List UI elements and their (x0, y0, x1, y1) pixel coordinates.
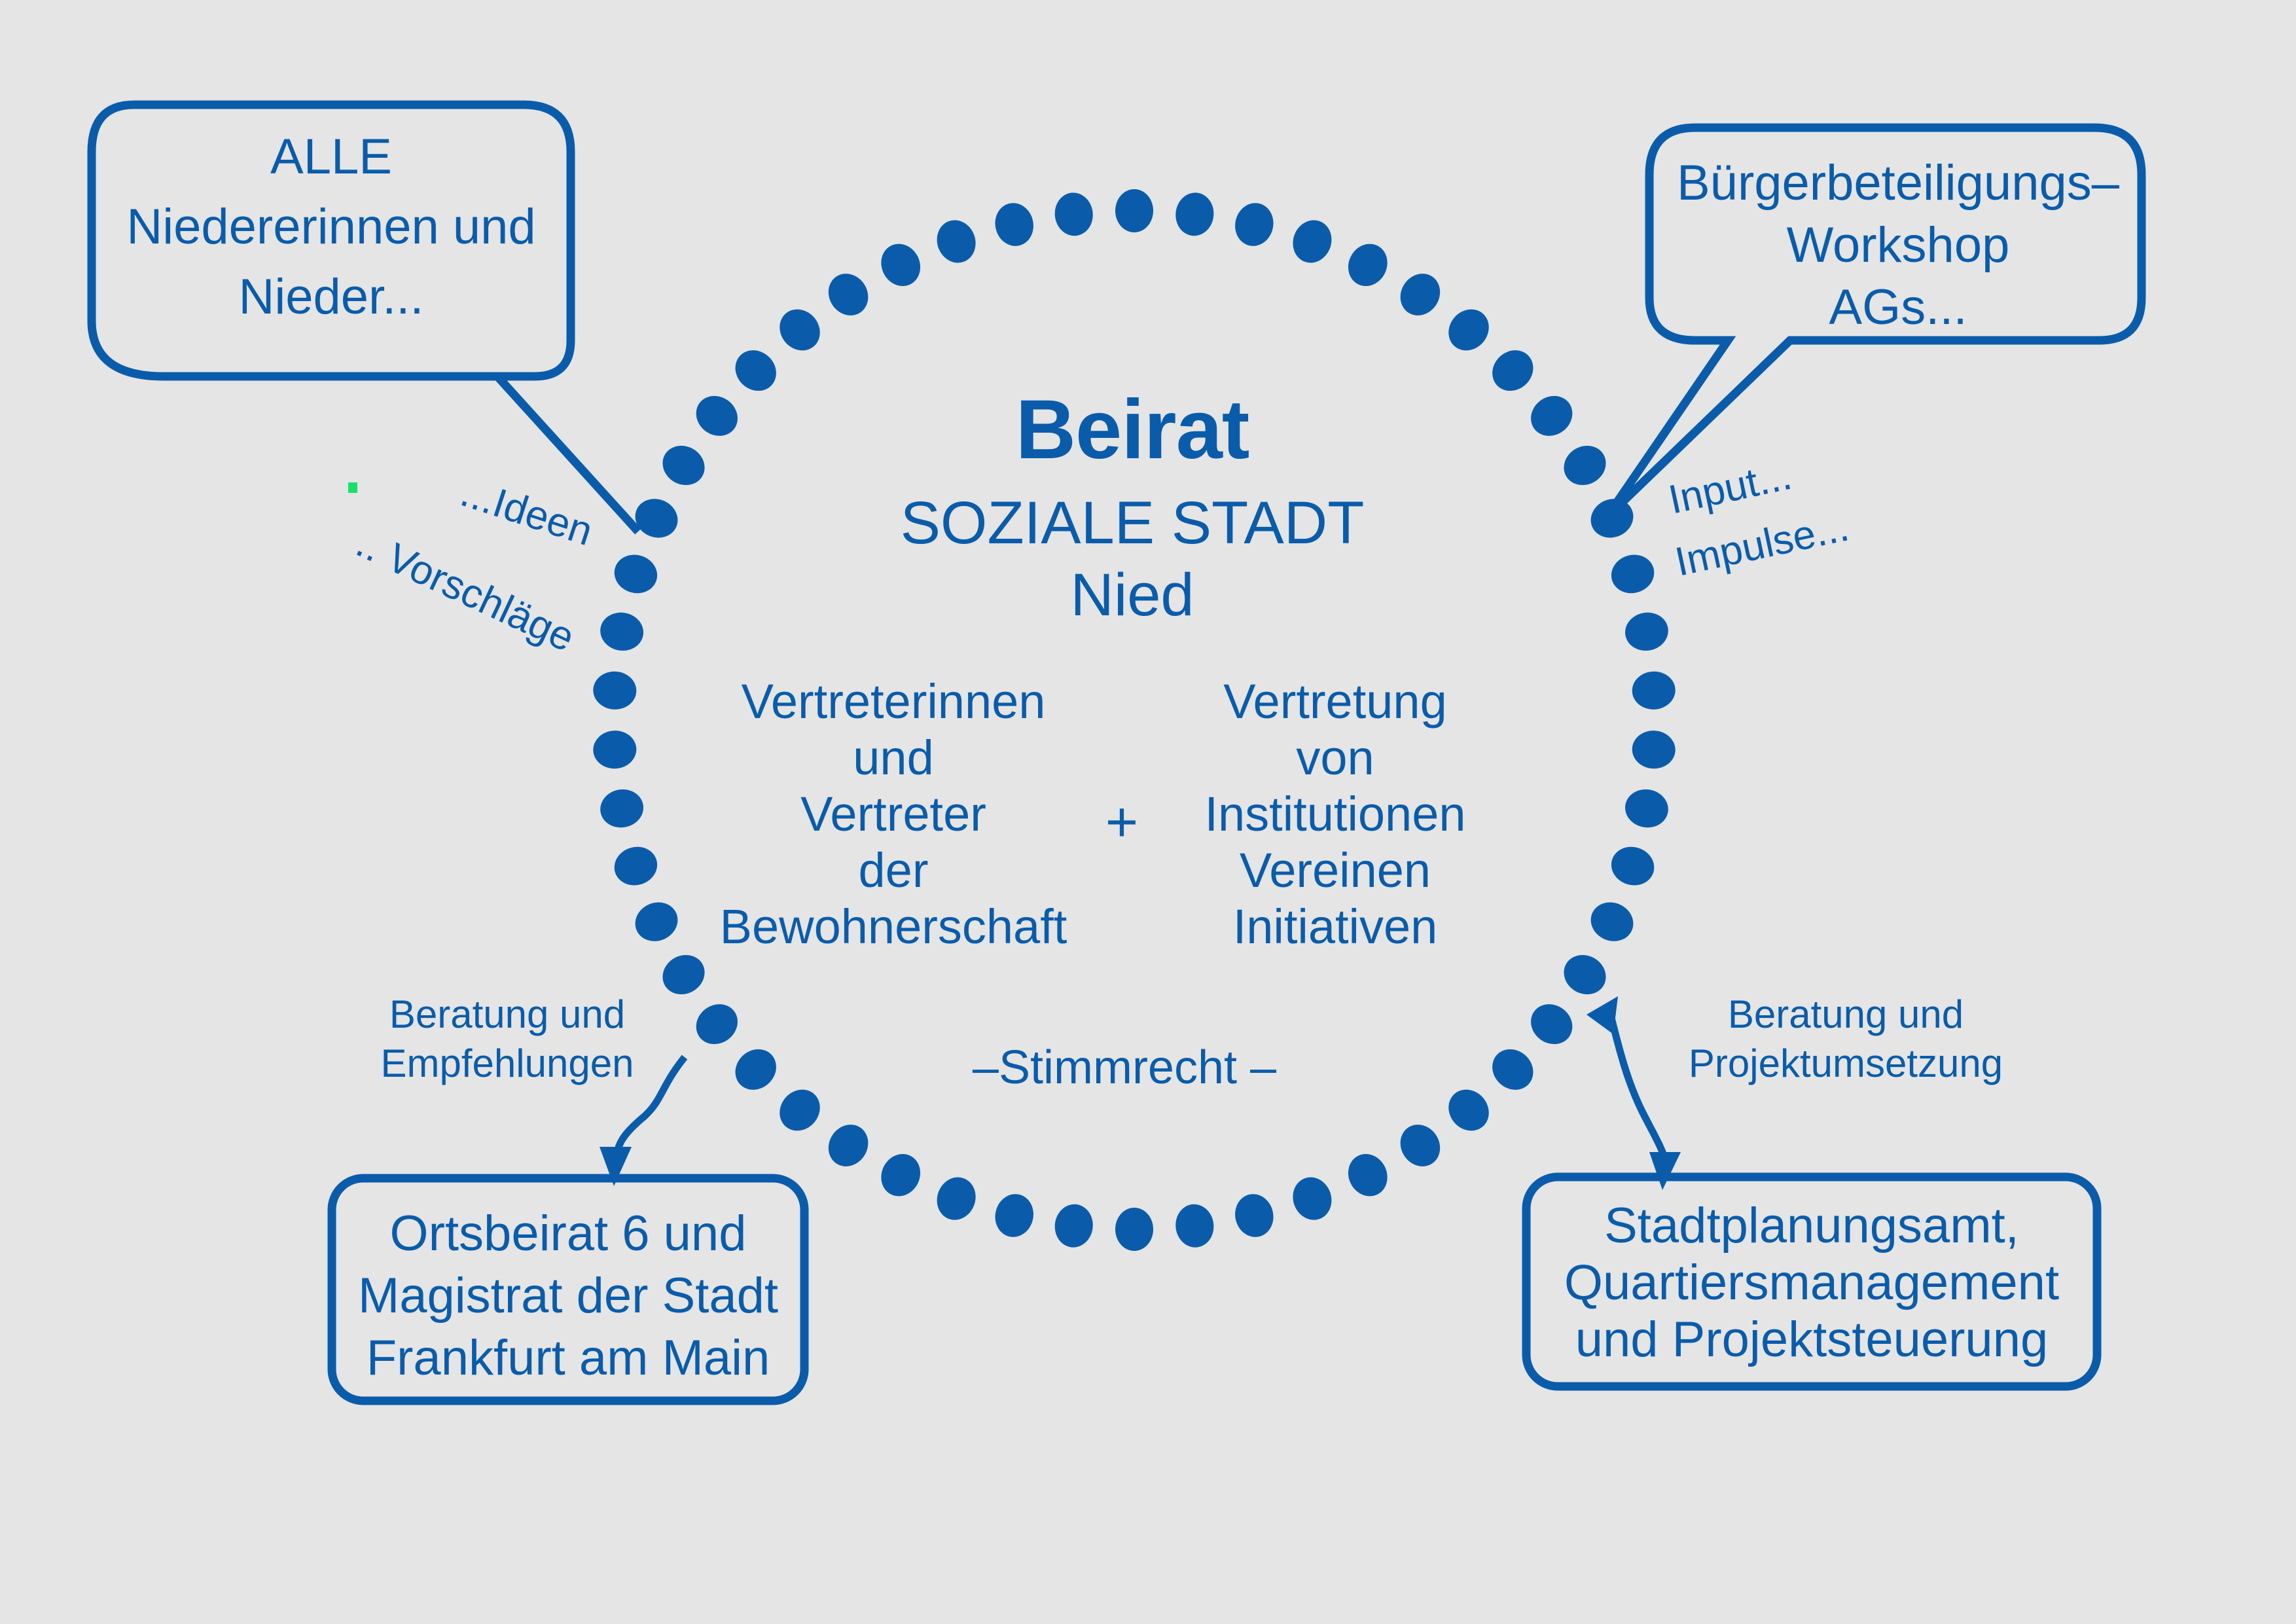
box-line-3: und Projektsteuerung (1575, 1312, 2048, 1367)
ring-dot (1115, 189, 1153, 232)
ring-dot (772, 301, 829, 359)
ring-dot (598, 609, 647, 655)
ring-dot (1585, 896, 1640, 948)
ring-dot (1556, 947, 1613, 1001)
right-column-line-3: Institutionen (1204, 787, 1465, 841)
right-column-line-2: von (1296, 731, 1374, 785)
bubble-line-1: Bürgerbeteiligungs– (1677, 155, 2120, 211)
bubble-line-3: Nieder... (238, 269, 423, 325)
right-column-line-5: Initiativen (1233, 899, 1438, 954)
bubble-line-2: Niedererinnen und (126, 199, 535, 255)
ring-dot (1052, 1202, 1095, 1250)
green-dot-marker (348, 482, 357, 493)
label-beratung-projektumsetzung-line-1: Beratung und (1728, 992, 1964, 1036)
box-line-2: Quartiersmanagement (1564, 1255, 2059, 1310)
ring-dot (1523, 388, 1581, 444)
ring-dot (727, 1041, 785, 1098)
annotation-ideen: ...Ideen (456, 470, 598, 555)
ring-dot (1115, 1208, 1153, 1251)
page-title: Beirat (1016, 383, 1249, 477)
label-beratung-empfehlungen-line-1: Beratung und (389, 992, 625, 1036)
ring-dot (1585, 492, 1640, 544)
ring-dot (592, 670, 637, 711)
box-line-2: Magistrat der Stadt (358, 1268, 778, 1324)
ring-dot (689, 388, 746, 444)
ring-dot (991, 199, 1038, 250)
bubble-line-1: ALLE (270, 129, 392, 185)
annotation-input: Input... (1665, 453, 1796, 523)
ring-dot (1631, 670, 1676, 711)
ring-dot (629, 492, 684, 544)
left-column-line-2: und (853, 731, 933, 785)
ring-dot (1174, 190, 1216, 238)
ring-dot (727, 342, 785, 399)
ring-dot (931, 215, 982, 268)
plus-operator: + (1105, 791, 1138, 854)
ring-dot (1341, 1147, 1394, 1203)
right-column-line-4: Vereinen (1240, 843, 1431, 897)
ring-dot (1393, 266, 1448, 323)
left-column-line-3: Vertreter (800, 787, 986, 841)
box-stadtplanungsamt[interactable]: Stadtplanungsamt, Quartiersmanagement un… (1526, 1177, 2097, 1386)
ring-dot (655, 947, 711, 1001)
ring-dot (1556, 438, 1613, 492)
ring-dot (874, 237, 927, 293)
ring-dot (1484, 342, 1541, 399)
ring-dot (1622, 786, 1671, 831)
ring-dot (1393, 1117, 1448, 1174)
box-line-3: Frankfurt am Main (367, 1330, 770, 1386)
left-column-line-5: Bewohnerschaft (720, 899, 1067, 954)
left-column-line-4: der (859, 843, 929, 897)
ring-dot (689, 996, 746, 1053)
ring-dot (1607, 842, 1659, 891)
bubble-line-3: AGs... (1829, 280, 1967, 335)
ring-dot (1441, 301, 1498, 359)
right-column-line-1: Vertretung (1223, 674, 1446, 729)
arrowhead-down-right (1649, 1152, 1681, 1190)
ring-dot (1230, 199, 1278, 250)
ring-dot (931, 1172, 982, 1225)
ring-dot (1341, 237, 1394, 293)
subtitle-secondary: Nied (1070, 562, 1194, 628)
speech-bubble-buergerbeteiligung[interactable]: Bürgerbeteiligungs– Workshop AGs... (1607, 128, 2142, 517)
ring-dot (1287, 215, 1337, 268)
ring-dot (821, 1117, 876, 1174)
bubble-line-2: Workshop (1787, 217, 2010, 273)
subtitle: SOZIALE STADT (901, 490, 1365, 556)
ring-dot (991, 1190, 1038, 1241)
ring-dot (655, 438, 711, 492)
diagram-canvas: ALLE Niedererinnen und Nieder... Bürgerb… (0, 0, 2296, 1624)
ring-dot (1523, 996, 1581, 1053)
ring-dot (1607, 550, 1659, 599)
ring-dot (1287, 1172, 1337, 1225)
ring-dot (609, 842, 662, 891)
arrowhead-up-right (1587, 996, 1618, 1034)
stimmrecht-note: –Stimmrecht – (973, 1041, 1277, 1094)
ring-dot (1441, 1081, 1498, 1139)
ring-dot (1484, 1041, 1541, 1098)
ring-dot (874, 1147, 927, 1203)
label-beratung-projektumsetzung-line-2: Projektumsetzung (1689, 1041, 2003, 1085)
ring-dot (609, 550, 662, 599)
ring-dot (592, 729, 637, 770)
ring-dot (1622, 609, 1671, 655)
box-line-1: Ortsbeirat 6 und (390, 1206, 747, 1261)
ring-dot (772, 1081, 829, 1139)
ring-dot (598, 786, 647, 831)
box-line-1: Stadtplanungsamt, (1604, 1198, 2019, 1254)
ring-dot (1631, 729, 1676, 770)
ring-dot (1052, 190, 1095, 238)
ring-dot (821, 266, 876, 323)
speech-bubble-alle-niederinnen[interactable]: ALLE Niedererinnen und Nieder... (92, 105, 638, 532)
left-column-line-1: Vertreterinnen (742, 674, 1046, 729)
box-ortsbeirat[interactable]: Ortsbeirat 6 und Magistrat der Stadt Fra… (332, 1178, 804, 1401)
ring-dot (1174, 1202, 1216, 1250)
ring-dot (1230, 1190, 1278, 1241)
ring-dot (629, 896, 684, 948)
beirat-soziale-stadt-diagram: ALLE Niedererinnen und Nieder... Bürgerb… (0, 0, 2296, 1624)
label-beratung-empfehlungen-line-2: Empfehlungen (381, 1041, 634, 1085)
arrow-shaft-double-right (1611, 1018, 1666, 1162)
